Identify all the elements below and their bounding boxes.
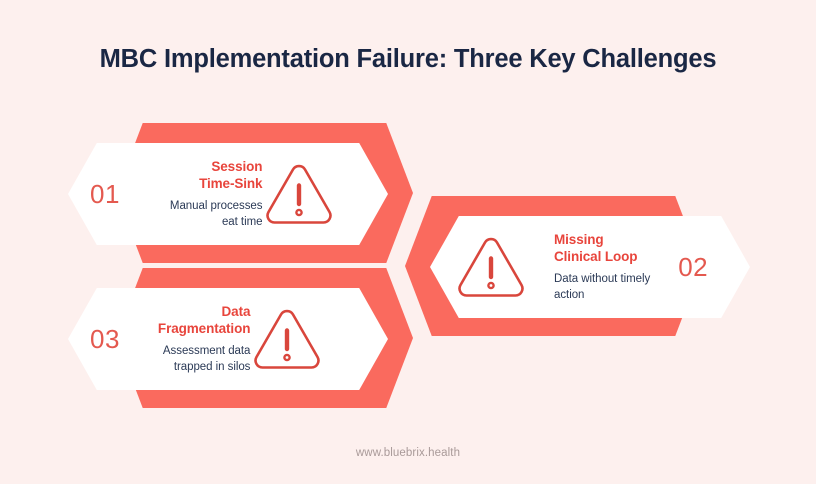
card-03-description-line-1: Assessment data (163, 345, 250, 357)
page-title: MBC Implementation Failure: Three Key Ch… (0, 45, 816, 74)
card-02-heading-line-1: Missing (554, 232, 604, 247)
footer-url[interactable]: www.bluebrix.health (0, 447, 816, 459)
card-03-heading-line-1: Data (222, 304, 251, 319)
warning-triangle-icon (262, 161, 336, 227)
card-02-heading: Missing Clinical Loop (554, 231, 650, 266)
card-03-description-line-2: trapped in silos (174, 361, 251, 373)
card-03: 03 Data Fragmentation Assessment data tr… (68, 268, 413, 408)
card-01-description: Manual processes eat time (170, 199, 263, 230)
infographic-canvas: MBC Implementation Failure: Three Key Ch… (0, 0, 816, 484)
card-02-description: Data without timely action (554, 272, 650, 303)
card-03-number: 03 (90, 326, 120, 352)
card-01-number: 01 (90, 181, 120, 207)
card-01-heading-line-1: Session (211, 159, 262, 174)
card-01-heading-line-2: Time-Sink (199, 176, 262, 191)
card-01-description-line-2: eat time (222, 216, 263, 228)
warning-triangle-icon (250, 306, 324, 372)
card-03-heading: Data Fragmentation (158, 303, 250, 338)
warning-triangle-icon (454, 234, 528, 300)
card-03-panel[interactable]: 03 Data Fragmentation Assessment data tr… (68, 288, 388, 390)
card-02: Missing Clinical Loop Data without timel… (405, 196, 750, 336)
card-01: 01 Session Time-Sink Manual processes ea… (68, 123, 413, 263)
card-02-number: 02 (678, 254, 708, 280)
card-03-heading-line-2: Fragmentation (158, 321, 250, 336)
card-03-description: Assessment data trapped in silos (158, 344, 250, 375)
card-02-heading-line-2: Clinical Loop (554, 249, 637, 264)
card-01-description-line-1: Manual processes (170, 200, 263, 212)
card-02-panel[interactable]: Missing Clinical Loop Data without timel… (430, 216, 750, 318)
card-02-description-line-1: Data without timely (554, 273, 650, 285)
card-01-panel[interactable]: 01 Session Time-Sink Manual processes ea… (68, 143, 388, 245)
card-01-heading: Session Time-Sink (170, 158, 263, 193)
card-02-description-line-2: action (554, 289, 584, 301)
